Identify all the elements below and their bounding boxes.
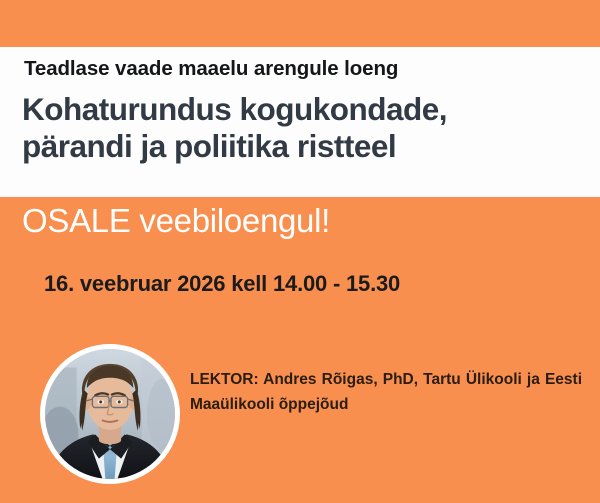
lecturer-photo-image <box>45 349 175 479</box>
lecturer-info: LEKTOR: Andres Rõigas, PhD, Tartu Ülikoo… <box>190 367 582 417</box>
top-orange-strip <box>0 0 600 47</box>
lecture-poster: Teadlase vaade maaelu arengule loeng Koh… <box>0 0 600 503</box>
lecturer-label: LEKTOR: <box>190 371 259 388</box>
poster-kicker: Teadlase vaade maaelu arengule loeng <box>24 58 576 81</box>
cta-text: OSALE veebiloengul! <box>22 203 582 239</box>
lecturer-photo <box>40 344 180 484</box>
headline-line-1: Kohaturundus kogukondade, <box>22 91 588 128</box>
event-datetime: 16. veebruar 2026 kell 14.00 - 15.30 <box>44 272 584 296</box>
headline-line-2: pärandi ja poliitika ristteel <box>22 128 588 165</box>
poster-headline: Kohaturundus kogukondade, pärandi ja pol… <box>22 91 588 164</box>
